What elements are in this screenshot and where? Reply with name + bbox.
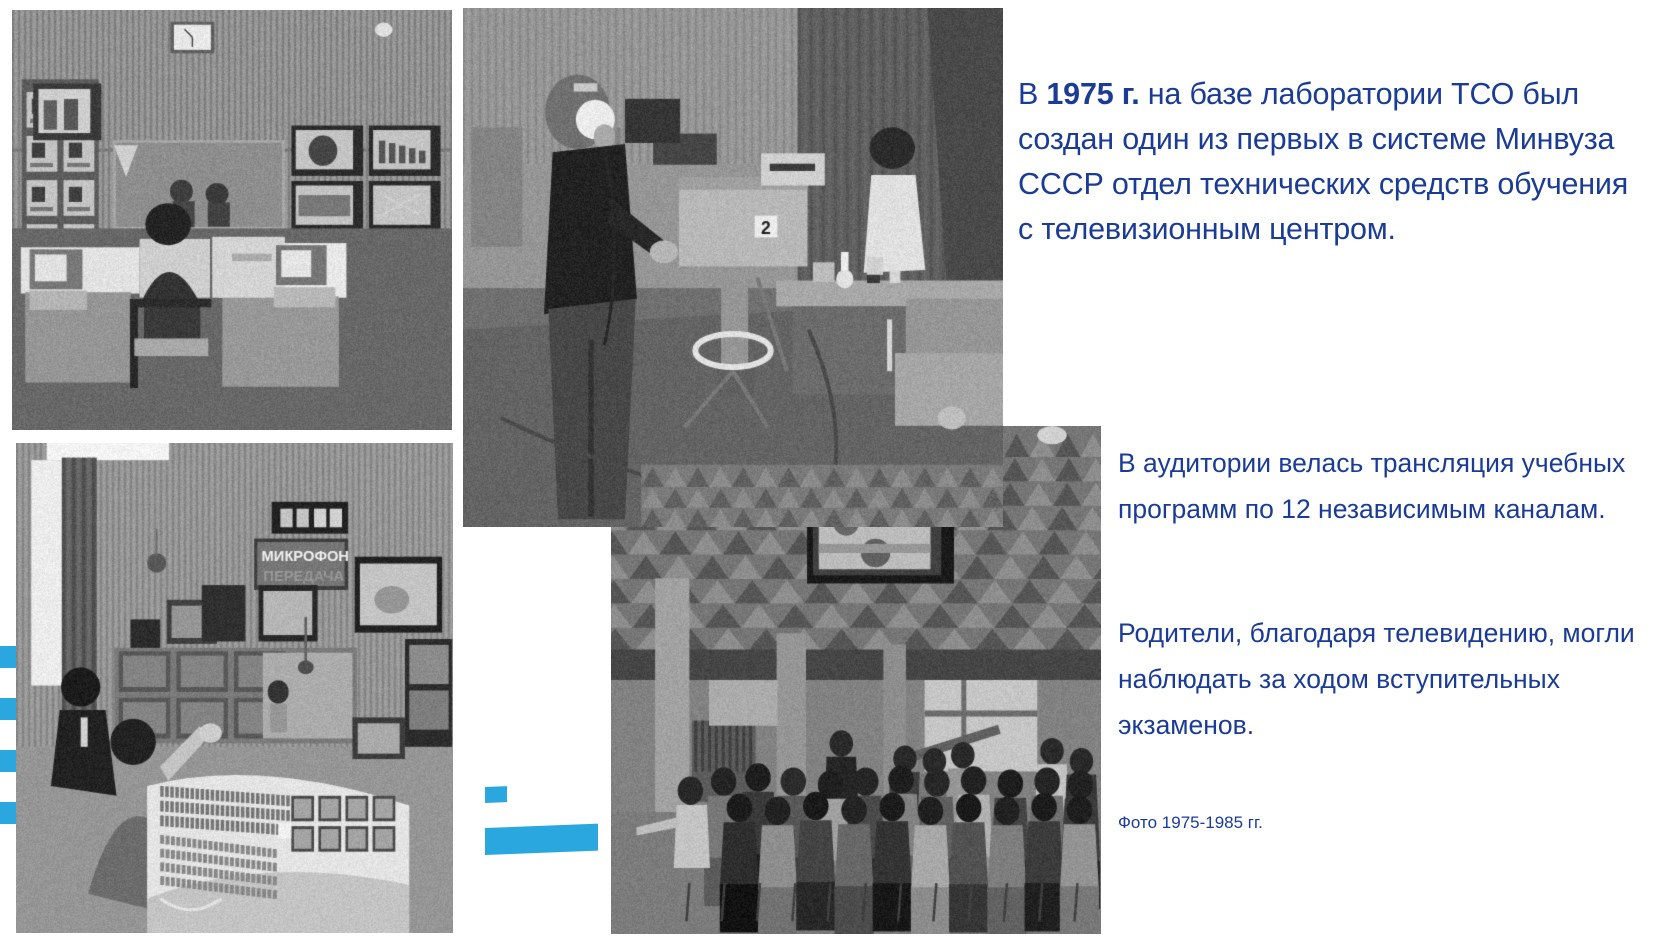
photo-middle-image: [463, 8, 1003, 527]
slide-canvas: В 1975 г. на базе лаборатории ТСО был со…: [0, 0, 1680, 945]
photo-bottom-left: [16, 443, 453, 933]
photo-middle: [463, 8, 1003, 527]
photo-bottom-left-image: [16, 443, 453, 933]
accent-stripe-bottom-1: [485, 786, 507, 803]
photo-top-left-image: [12, 10, 452, 430]
paragraph-broadcast: В аудитории велась трансляция учебных пр…: [1118, 440, 1658, 532]
photo-credit-caption: Фото 1975-1985 гг.: [1118, 812, 1658, 834]
photo-top-left: [12, 10, 452, 430]
paragraph-intro: В 1975 г. на базе лаборатории ТСО был со…: [1018, 72, 1638, 252]
text-column: В 1975 г. на базе лаборатории ТСО был со…: [1014, 0, 1680, 945]
paragraph-intro-pre: В: [1018, 77, 1046, 111]
paragraph-intro-year: 1975 г.: [1046, 77, 1139, 111]
paragraph-parents: Родители, благодаря телевидению, могли н…: [1118, 610, 1658, 748]
accent-stripe-bottom-2: [485, 824, 598, 855]
